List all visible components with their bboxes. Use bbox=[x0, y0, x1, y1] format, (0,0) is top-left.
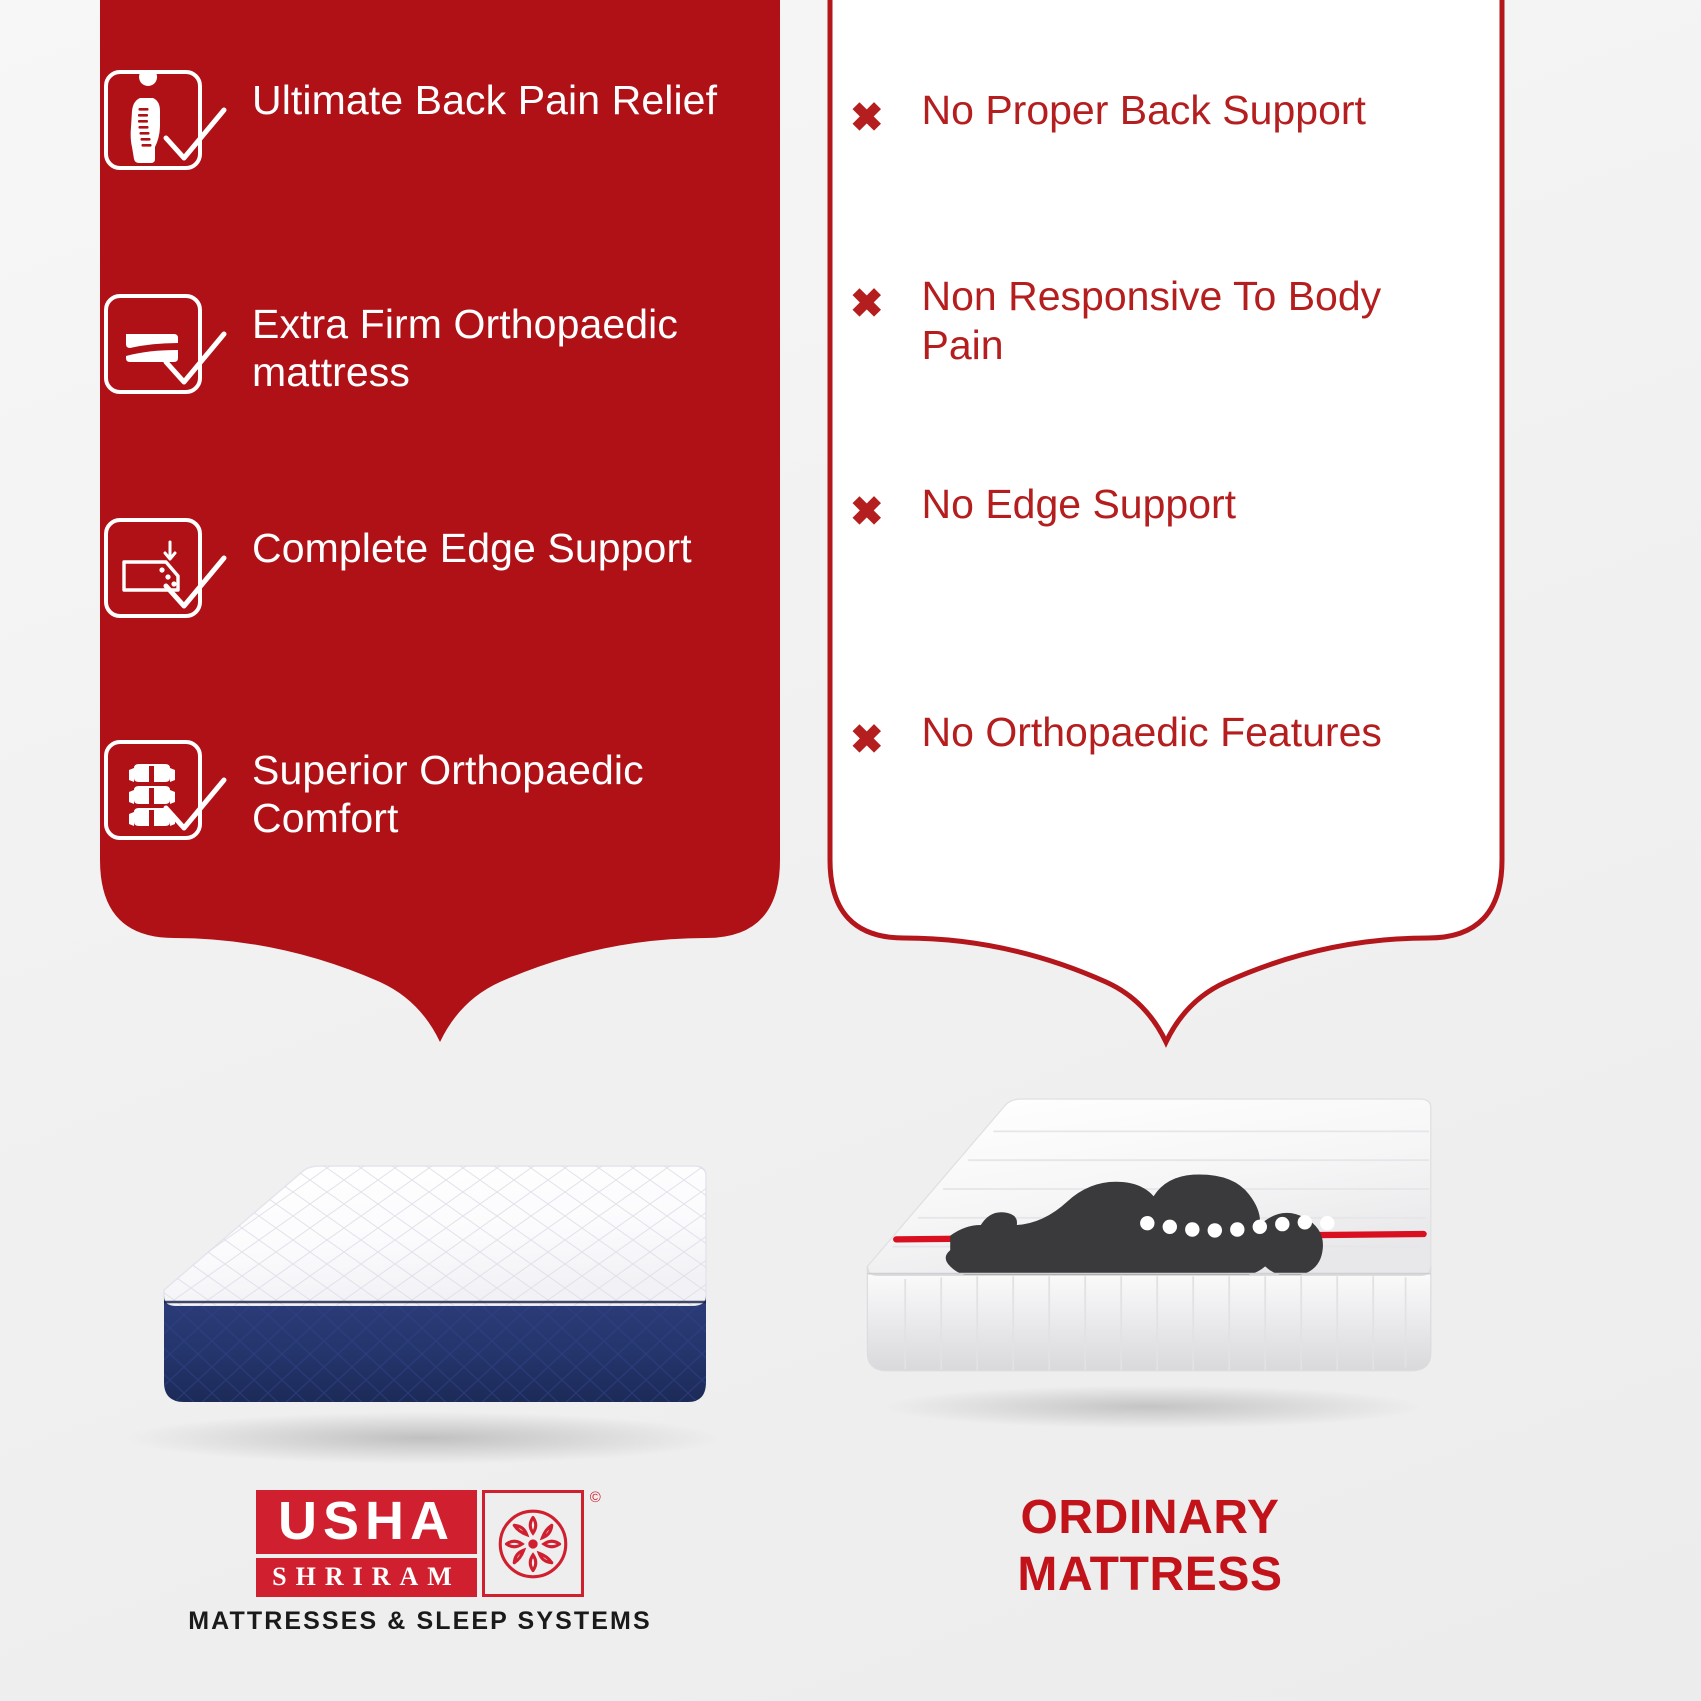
mattress-shadow bbox=[880, 1385, 1420, 1428]
drawback-label: Non Responsive To Body Pain bbox=[922, 272, 1462, 370]
copyright-icon: © bbox=[590, 1489, 601, 1506]
feature-item: Complete Edge Support bbox=[100, 512, 780, 624]
mattress-side-face bbox=[867, 1266, 1430, 1370]
logo-shriram-text: SHRIRAM bbox=[256, 1558, 477, 1597]
drawback-item: ✖ No Proper Back Support bbox=[850, 86, 1510, 138]
ordinary-label-line2: MATTRESS bbox=[800, 1547, 1500, 1604]
feature-icon-wrap bbox=[100, 64, 222, 176]
feature-item: Ultimate Back Pain Relief bbox=[100, 64, 780, 176]
logo-wordmark: USHA SHRIRAM bbox=[256, 1490, 477, 1597]
feature-icon-wrap bbox=[100, 288, 222, 400]
usha-mattress-image bbox=[72, 1120, 772, 1480]
ordinary-mattress-label: ORDINARY MATTRESS bbox=[800, 1490, 1500, 1603]
infographic-stage: Ultimate Back Pain Relief Extra Firm Ort… bbox=[0, 0, 1701, 1701]
check-icon bbox=[158, 770, 232, 844]
drawback-item: ✖ No Edge Support bbox=[850, 480, 1510, 532]
check-icon bbox=[158, 324, 232, 398]
cross-icon: ✖ bbox=[850, 708, 884, 760]
feature-label: Superior Orthopaedic Comfort bbox=[252, 734, 772, 843]
feature-item: Superior Orthopaedic Comfort bbox=[100, 734, 780, 846]
drawback-label: No Proper Back Support bbox=[922, 86, 1366, 135]
cross-icon: ✖ bbox=[850, 480, 884, 532]
drawback-item: ✖ Non Responsive To Body Pain bbox=[850, 272, 1510, 370]
drawback-item: ✖ No Orthopaedic Features bbox=[850, 708, 1510, 760]
feature-icon-wrap bbox=[100, 512, 222, 624]
brand-tagline: MATTRESSES & SLEEP SYSTEMS bbox=[188, 1607, 651, 1636]
usha-features-panel: Ultimate Back Pain Relief Extra Firm Ort… bbox=[60, 0, 820, 940]
feature-label: Complete Edge Support bbox=[252, 512, 692, 572]
ordinary-label-line1: ORDINARY bbox=[800, 1490, 1500, 1547]
feature-label: Extra Firm Orthopaedic mattress bbox=[252, 288, 772, 397]
check-icon bbox=[158, 548, 232, 622]
cross-icon: ✖ bbox=[850, 86, 884, 138]
feature-item: Extra Firm Orthopaedic mattress bbox=[100, 288, 780, 400]
drawback-label: No Edge Support bbox=[922, 480, 1237, 529]
feature-label: Ultimate Back Pain Relief bbox=[252, 64, 717, 124]
drawback-label: No Orthopaedic Features bbox=[922, 708, 1382, 757]
cross-icon: ✖ bbox=[850, 272, 884, 324]
ordinary-mattress-image bbox=[800, 1090, 1500, 1450]
ordinary-drawbacks-panel: ✖ No Proper Back Support ✖ Non Responsiv… bbox=[790, 0, 1550, 940]
usha-shriram-brand-block: USHA SHRIRAM © bbox=[70, 1490, 770, 1636]
logo-row: USHA SHRIRAM © bbox=[256, 1490, 584, 1597]
mattress-shadow bbox=[124, 1412, 724, 1464]
feature-icon-wrap bbox=[100, 734, 222, 846]
wheel-emblem-icon: © bbox=[482, 1490, 584, 1597]
check-icon bbox=[158, 100, 232, 174]
logo-usha-text: USHA bbox=[256, 1490, 477, 1554]
